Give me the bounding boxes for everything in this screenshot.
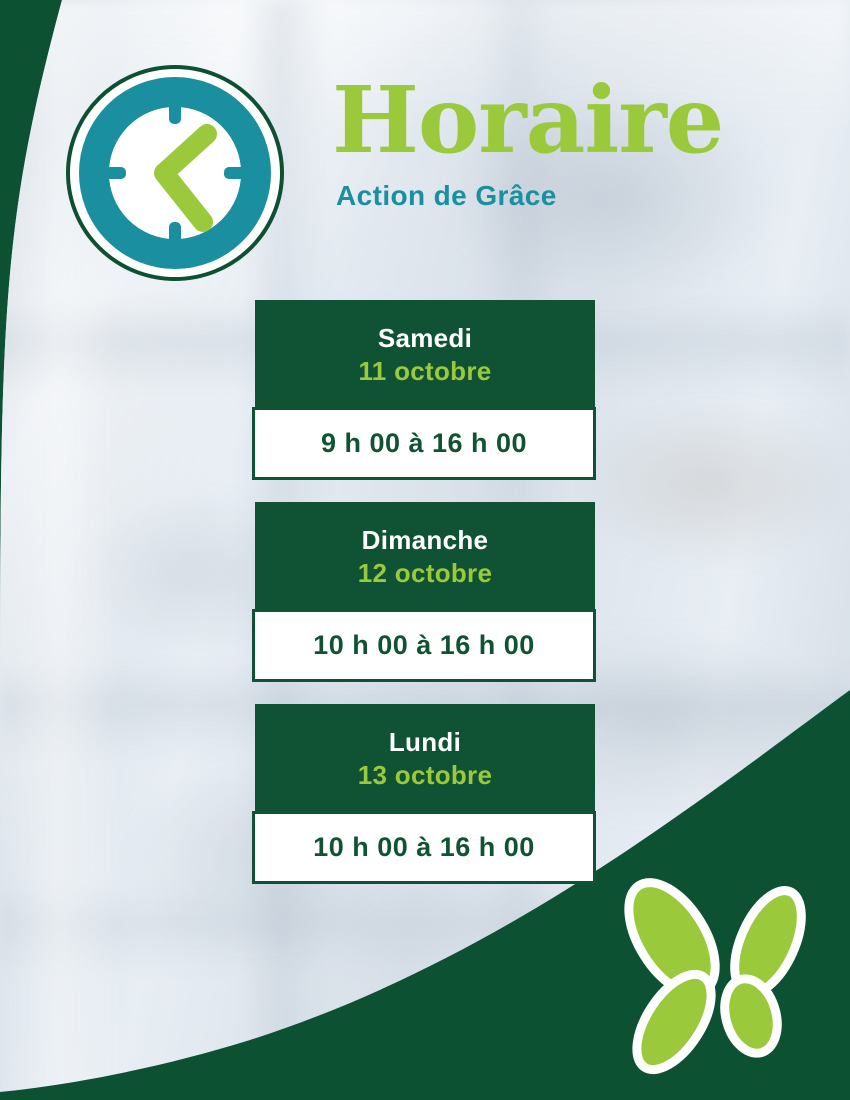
schedule-day: Samedi — [255, 322, 595, 355]
schedule-hours: 10 h 00 à 16 h 00 — [313, 832, 535, 862]
schedule-date: 13 octobre — [255, 759, 595, 792]
title-block: Horaire Action de Grâce — [332, 74, 723, 212]
schedule-hours: 9 h 00 à 16 h 00 — [321, 428, 527, 458]
butterfly-flower-logo — [608, 876, 836, 1076]
schedule-card: Lundi 13 octobre 10 h 00 à 16 h 00 — [255, 704, 595, 884]
clock-icon — [64, 62, 286, 284]
schedule-hours-box: 10 h 00 à 16 h 00 — [252, 609, 596, 682]
schedule-list: Samedi 11 octobre 9 h 00 à 16 h 00 Diman… — [0, 300, 850, 906]
schedule-card-header: Dimanche 12 octobre — [255, 502, 595, 609]
page-subtitle: Action de Grâce — [336, 180, 723, 212]
poster-header: Horaire Action de Grâce — [0, 62, 850, 292]
schedule-day: Lundi — [255, 726, 595, 759]
schedule-date: 11 octobre — [255, 355, 595, 388]
schedule-day: Dimanche — [255, 524, 595, 557]
schedule-date: 12 octobre — [255, 557, 595, 590]
schedule-card-header: Samedi 11 octobre — [255, 300, 595, 407]
page-title: Horaire — [332, 74, 723, 166]
schedule-hours-box: 9 h 00 à 16 h 00 — [252, 407, 596, 480]
schedule-card: Dimanche 12 octobre 10 h 00 à 16 h 00 — [255, 502, 595, 682]
schedule-card-header: Lundi 13 octobre — [255, 704, 595, 811]
schedule-hours: 10 h 00 à 16 h 00 — [313, 630, 535, 660]
poster-canvas: Horaire Action de Grâce Samedi 11 octobr… — [0, 0, 850, 1100]
schedule-card: Samedi 11 octobre 9 h 00 à 16 h 00 — [255, 300, 595, 480]
schedule-hours-box: 10 h 00 à 16 h 00 — [252, 811, 596, 884]
